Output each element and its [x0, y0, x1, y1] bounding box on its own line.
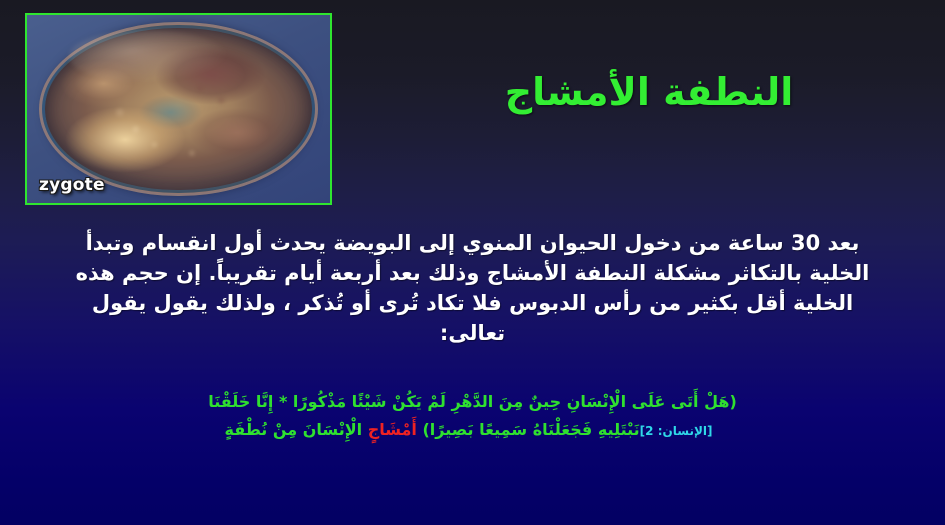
verse-segment-after: نَبْتَلِيهِ فَجَعَلْنَاهُ سَمِيعًا بَصِي…: [422, 420, 639, 439]
verse-line-two: [الإنسان: 2]نَبْتَلِيهِ فَجَعَلْنَاهُ سَ…: [70, 416, 875, 444]
quran-verse-block: (هَلْ أَتَى عَلَى الْإِنْسَانِ حِينٌ مِن…: [70, 388, 875, 443]
body-paragraph: بعد 30 ساعة من دخول الحيوان المنوي إلى ا…: [62, 228, 883, 348]
verse-highlight-amshaj: أَمْشَاجٍ: [368, 420, 417, 439]
verse-line-one: (هَلْ أَتَى عَلَى الْإِنْسَانِ حِينٌ مِن…: [70, 388, 875, 416]
verse-citation: [الإنسان: 2]: [640, 424, 721, 438]
verse-segment-before: الْإِنْسَانَ مِنْ نُطْفَةٍ: [225, 420, 363, 439]
slide-title: النطفة الأمشاج: [389, 72, 909, 114]
zygote-highlight: [69, 30, 227, 83]
zygote-caption-label: zygote: [39, 175, 105, 195]
presentation-slide: zygote النطفة الأمشاج بعد 30 ساعة من دخو…: [0, 0, 945, 525]
zygote-image-frame: zygote: [25, 13, 332, 205]
